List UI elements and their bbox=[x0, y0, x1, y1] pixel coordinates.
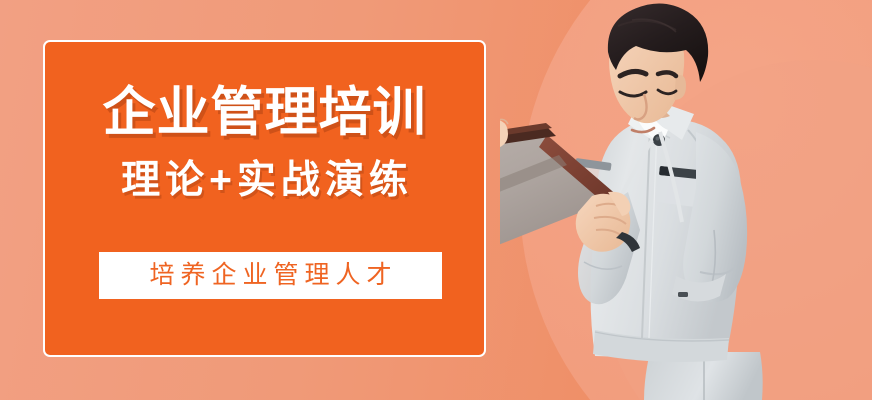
tagline-box: 培养企业管理人才 bbox=[99, 252, 442, 299]
headline-panel-content: 企业管理培训 理论+实战演练 bbox=[45, 42, 484, 355]
page-subtitle: 理论+实战演练 bbox=[116, 161, 413, 200]
training-banner: 企业管理培训 理论+实战演练 培养企业管理人才 bbox=[0, 0, 872, 400]
person-photo bbox=[500, 0, 872, 400]
page-title: 企业管理培训 bbox=[103, 86, 427, 139]
headline-panel: 企业管理培训 理论+实战演练 培养企业管理人才 bbox=[43, 40, 486, 357]
tagline-text: 培养企业管理人才 bbox=[143, 263, 397, 288]
ear bbox=[674, 75, 686, 100]
